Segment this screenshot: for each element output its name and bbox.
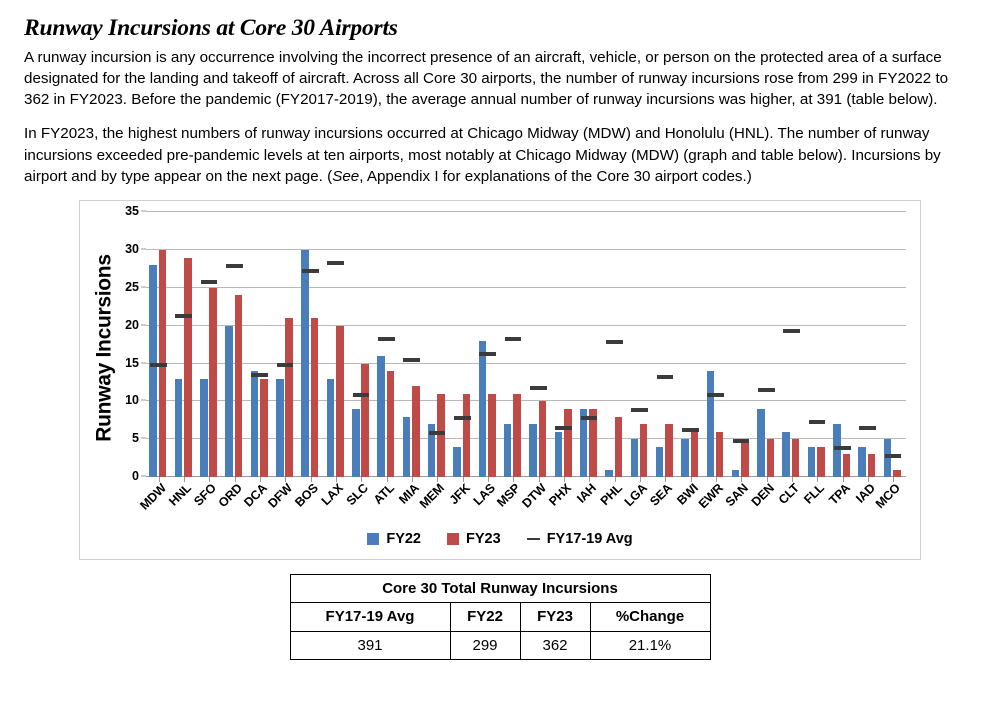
legend-swatch-dash-icon	[527, 538, 540, 540]
paragraph-2-see-emphasis: See	[332, 168, 359, 185]
x-axis-label-lax: LAX	[319, 481, 346, 508]
table-header-row: FY17-19 Avg FY22 FY23 %Change	[290, 603, 710, 631]
x-label-cell-iad: IAD	[855, 479, 880, 539]
x-label-cell-phx: PHX	[551, 479, 576, 539]
bar-group-bwi[interactable]	[678, 212, 703, 477]
avg-marker-atl	[378, 337, 395, 341]
x-label-cell-ewr: EWR	[703, 479, 728, 539]
bar-group-mdw[interactable]	[146, 212, 171, 477]
avg-marker-iah	[581, 416, 598, 420]
bar-group-phx[interactable]	[551, 212, 576, 477]
avg-marker-mia	[403, 358, 420, 362]
x-label-cell-lax: LAX	[323, 479, 348, 539]
bar-fy22-phx[interactable]	[555, 432, 563, 477]
bar-fy23-dca[interactable]	[260, 379, 268, 477]
bar-fy22-san[interactable]	[732, 470, 740, 478]
paragraph-2-text-after: , Appendix I for explanations of the Cor…	[359, 168, 752, 185]
avg-marker-phl	[606, 340, 623, 344]
bar-fy23-las[interactable]	[488, 394, 496, 477]
bar-fy22-hnl[interactable]	[175, 379, 183, 477]
bar-fy23-jfk[interactable]	[463, 394, 471, 477]
bar-fy22-ord[interactable]	[225, 326, 233, 477]
y-tick-label-35: 35	[125, 204, 139, 218]
x-label-cell-mco: MCO	[881, 479, 906, 539]
avg-marker-san	[733, 439, 750, 443]
page: Runway Incursions at Core 30 Airports A …	[0, 0, 1000, 717]
bar-group-mco[interactable]	[881, 212, 906, 477]
bar-group-ewr[interactable]	[703, 212, 728, 477]
x-label-cell-ord: ORD	[222, 479, 247, 539]
chart-legend: FY22FY23FY17-19 Avg	[80, 531, 920, 547]
bar-group-las[interactable]	[475, 212, 500, 477]
bar-fy22-dtw[interactable]	[529, 424, 537, 477]
x-axis-label-phl: PHL	[597, 481, 624, 508]
x-label-cell-fll: FLL	[805, 479, 830, 539]
bar-fy22-atl[interactable]	[377, 356, 385, 477]
bar-fy22-mdw[interactable]	[149, 265, 157, 477]
x-axis-label-las: LAS	[471, 481, 498, 508]
bar-group-slc[interactable]	[349, 212, 374, 477]
avg-marker-dca	[251, 373, 268, 377]
x-label-cell-iah: IAH	[577, 479, 602, 539]
avg-marker-sfo	[201, 280, 218, 284]
bar-fy23-phl[interactable]	[615, 417, 623, 478]
bar-fy22-las[interactable]	[479, 341, 487, 477]
header-fy17-19-avg: FY17-19 Avg	[290, 603, 450, 631]
bar-fy23-msp[interactable]	[513, 394, 521, 477]
bar-fy23-bos[interactable]	[311, 318, 319, 477]
header-fy23: FY23	[520, 603, 590, 631]
bar-fy22-mia[interactable]	[403, 417, 411, 478]
avg-marker-mco	[885, 454, 902, 458]
x-axis-label-tpa: TPA	[826, 481, 853, 508]
x-label-cell-clt: CLT	[779, 479, 804, 539]
x-label-cell-dtw: DTW	[526, 479, 551, 539]
avg-marker-iad	[859, 426, 876, 430]
avg-marker-msp	[505, 337, 522, 341]
bar-fy23-dfw[interactable]	[285, 318, 293, 477]
bar-fy23-bwi[interactable]	[691, 432, 699, 477]
legend-item-fy23[interactable]: FY23	[447, 531, 501, 547]
bar-fy22-mco[interactable]	[884, 439, 892, 477]
x-label-cell-slc: SLC	[349, 479, 374, 539]
avg-marker-clt	[783, 329, 800, 333]
avg-marker-mdw	[150, 363, 167, 367]
header-pct-change: %Change	[590, 603, 710, 631]
bar-fy22-ewr[interactable]	[707, 371, 715, 477]
avg-marker-hnl	[175, 314, 192, 318]
bar-group-lga[interactable]	[627, 212, 652, 477]
x-label-cell-jfk: JFK	[450, 479, 475, 539]
chart-y-axis-label: Runway Incursions	[88, 201, 122, 495]
chart-plot-area: 05101520253035	[146, 212, 906, 477]
avg-marker-phx	[555, 426, 572, 430]
bar-group-dtw[interactable]	[526, 212, 551, 477]
bar-fy23-atl[interactable]	[387, 371, 395, 477]
bar-group-sfo[interactable]	[197, 212, 222, 477]
x-label-cell-bwi: BWI	[678, 479, 703, 539]
bar-group-sea[interactable]	[653, 212, 678, 477]
legend-swatch-square-icon	[367, 533, 379, 545]
bar-group-atl[interactable]	[374, 212, 399, 477]
x-axis-label-bwi: BWI	[674, 481, 701, 508]
x-label-cell-mia: MIA	[399, 479, 424, 539]
x-label-cell-tpa: TPA	[830, 479, 855, 539]
x-axis-label-sea: SEA	[647, 481, 675, 509]
avg-marker-bos	[302, 269, 319, 273]
avg-marker-den	[758, 388, 775, 392]
legend-label: FY22	[386, 531, 421, 547]
table-caption-row: Core 30 Total Runway Incursions	[290, 575, 710, 603]
bar-group-hnl[interactable]	[171, 212, 196, 477]
x-label-cell-sea: SEA	[653, 479, 678, 539]
bar-fy23-ewr[interactable]	[716, 432, 724, 477]
bar-fy22-lax[interactable]	[327, 379, 335, 477]
x-label-cell-dfw: DFW	[273, 479, 298, 539]
chart-bar-groups	[146, 212, 906, 477]
avg-marker-lga	[631, 408, 648, 412]
bar-group-jfk[interactable]	[450, 212, 475, 477]
bar-fy23-hnl[interactable]	[184, 258, 192, 478]
bar-fy22-den[interactable]	[757, 409, 765, 477]
x-label-cell-msp: MSP	[501, 479, 526, 539]
bar-fy23-phx[interactable]	[564, 409, 572, 477]
x-label-cell-san: SAN	[729, 479, 754, 539]
avg-marker-las	[479, 352, 496, 356]
bar-fy23-lga[interactable]	[640, 424, 648, 477]
avg-marker-tpa	[834, 446, 851, 450]
bar-fy23-mia[interactable]	[412, 386, 420, 477]
bar-group-den[interactable]	[754, 212, 779, 477]
avg-marker-dfw	[277, 363, 294, 367]
table-row: 391 299 362 21.1%	[290, 631, 710, 659]
bar-fy22-tpa[interactable]	[833, 424, 841, 477]
y-tick-label-25: 25	[125, 280, 139, 294]
bar-fy22-iad[interactable]	[858, 447, 866, 477]
avg-marker-ord	[226, 264, 243, 268]
bar-group-bos[interactable]	[298, 212, 323, 477]
bar-fy23-ord[interactable]	[235, 295, 243, 477]
bar-fy22-sfo[interactable]	[200, 379, 208, 477]
bar-fy23-lax[interactable]	[336, 326, 344, 477]
bar-group-phl[interactable]	[602, 212, 627, 477]
bar-fy23-san[interactable]	[741, 439, 749, 477]
x-axis-label-phx: PHX	[546, 481, 574, 509]
bar-fy23-sea[interactable]	[665, 424, 673, 477]
bar-group-mem[interactable]	[425, 212, 450, 477]
summary-table-wrap: Core 30 Total Runway Incursions FY17-19 …	[22, 574, 978, 660]
legend-item-fy22[interactable]: FY22	[367, 531, 421, 547]
y-tick-label-15: 15	[125, 356, 139, 370]
avg-marker-dtw	[530, 386, 547, 390]
bar-fy23-mco[interactable]	[893, 470, 901, 478]
y-tick-label-20: 20	[125, 318, 139, 332]
x-axis-label-sfo: SFO	[192, 481, 220, 509]
avg-marker-fll	[809, 420, 826, 424]
bar-group-iad[interactable]	[855, 212, 880, 477]
bar-fy23-fll[interactable]	[817, 447, 825, 477]
cell-fy17-19-avg: 391	[290, 631, 450, 659]
cell-fy23: 362	[520, 631, 590, 659]
bar-fy23-tpa[interactable]	[843, 454, 851, 477]
avg-marker-jfk	[454, 416, 471, 420]
x-axis-label-fll: FLL	[801, 481, 827, 507]
x-label-cell-mem: MEM	[425, 479, 450, 539]
x-axis-label-mdw: MDW	[137, 481, 169, 513]
core30-summary-table: Core 30 Total Runway Incursions FY17-19 …	[290, 574, 711, 660]
x-label-cell-phl: PHL	[602, 479, 627, 539]
y-tick-label-0: 0	[132, 469, 139, 483]
intro-paragraph-2: In FY2023, the highest numbers of runway…	[24, 123, 974, 187]
bar-group-san[interactable]	[729, 212, 754, 477]
legend-label: FY17-19 Avg	[547, 531, 633, 547]
avg-marker-lax	[327, 261, 344, 265]
bar-group-msp[interactable]	[501, 212, 526, 477]
header-fy22: FY22	[450, 603, 520, 631]
legend-item-fy17-19-avg[interactable]: FY17-19 Avg	[527, 531, 633, 547]
bar-fy23-slc[interactable]	[361, 364, 369, 478]
x-label-cell-las: LAS	[475, 479, 500, 539]
x-axis-label-jfk: JFK	[446, 481, 472, 507]
x-label-cell-atl: ATL	[374, 479, 399, 539]
bar-fy22-slc[interactable]	[352, 409, 360, 477]
bar-fy22-jfk[interactable]	[453, 447, 461, 477]
bar-group-iah[interactable]	[577, 212, 602, 477]
x-axis-label-atl: ATL	[371, 481, 397, 507]
bar-group-ord[interactable]	[222, 212, 247, 477]
chart-x-axis-labels: MDWHNLSFOORDDCADFWBOSLAXSLCATLMIAMEMJFKL…	[146, 479, 906, 539]
cell-fy22: 299	[450, 631, 520, 659]
bar-group-clt[interactable]	[779, 212, 804, 477]
x-axis-label-clt: CLT	[776, 481, 802, 507]
bar-group-dca[interactable]	[247, 212, 272, 477]
bar-group-dfw[interactable]	[273, 212, 298, 477]
bar-group-fll[interactable]	[805, 212, 830, 477]
avg-marker-bwi	[682, 428, 699, 432]
bar-group-mia[interactable]	[399, 212, 424, 477]
bar-fy22-dca[interactable]	[251, 371, 259, 477]
page-title: Runway Incursions at Core 30 Airports	[24, 16, 978, 42]
bar-fy22-bos[interactable]	[301, 250, 309, 477]
x-label-cell-mdw: MDW	[146, 479, 171, 539]
y-tick-label-30: 30	[125, 242, 139, 256]
bar-fy23-clt[interactable]	[792, 439, 800, 477]
avg-marker-slc	[353, 393, 370, 397]
bar-fy23-mem[interactable]	[437, 394, 445, 477]
x-axis-label-iah: IAH	[574, 481, 599, 506]
avg-marker-sea	[657, 375, 674, 379]
x-label-cell-dca: DCA	[247, 479, 272, 539]
bar-group-lax[interactable]	[323, 212, 348, 477]
bar-fy23-den[interactable]	[767, 439, 775, 477]
table-caption: Core 30 Total Runway Incursions	[290, 575, 710, 603]
bar-fy22-bwi[interactable]	[681, 439, 689, 477]
x-label-cell-bos: BOS	[298, 479, 323, 539]
x-label-cell-sfo: SFO	[197, 479, 222, 539]
x-label-cell-hnl: HNL	[171, 479, 196, 539]
runway-incursions-chart: Runway Incursions 05101520253035 MDWHNLS…	[79, 200, 921, 560]
x-axis-label-slc: SLC	[344, 481, 371, 508]
bar-fy23-dtw[interactable]	[539, 401, 547, 477]
y-tick-label-5: 5	[132, 431, 139, 445]
bar-fy22-lga[interactable]	[631, 439, 639, 477]
bar-fy22-phl[interactable]	[605, 470, 613, 478]
intro-paragraph-1: A runway incursion is any occurrence inv…	[24, 47, 974, 111]
avg-marker-ewr	[707, 393, 724, 397]
bar-fy22-clt[interactable]	[782, 432, 790, 477]
bar-fy22-sea[interactable]	[656, 447, 664, 477]
bar-fy23-iad[interactable]	[868, 454, 876, 477]
legend-swatch-square-icon	[447, 533, 459, 545]
x-label-cell-lga: LGA	[627, 479, 652, 539]
cell-pct-change: 21.1%	[590, 631, 710, 659]
bar-group-tpa[interactable]	[830, 212, 855, 477]
y-tick-label-10: 10	[125, 393, 139, 407]
bar-fy22-dfw[interactable]	[276, 379, 284, 477]
x-axis-label-hnl: HNL	[166, 481, 194, 509]
legend-label: FY23	[466, 531, 501, 547]
x-label-cell-den: DEN	[754, 479, 779, 539]
bar-fy23-sfo[interactable]	[209, 288, 217, 477]
bar-fy22-msp[interactable]	[504, 424, 512, 477]
avg-marker-mem	[429, 431, 446, 435]
bar-fy22-fll[interactable]	[808, 447, 816, 477]
